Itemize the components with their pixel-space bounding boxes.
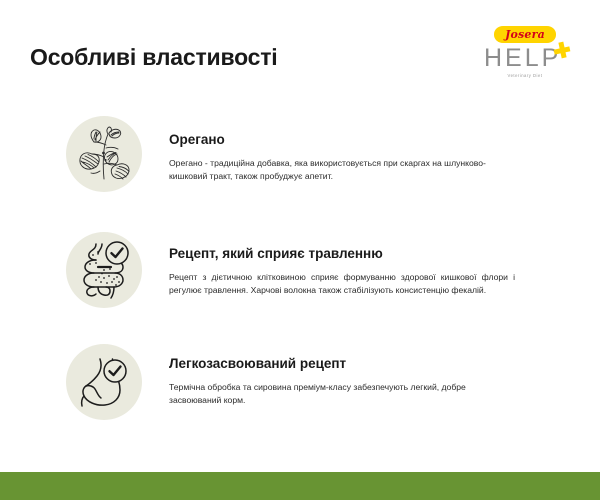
help-wordmark: HELP <box>484 46 561 71</box>
brand-logo: Josera HELP Veterinary Diet <box>480 26 572 88</box>
feature-row: Легкозасвоюваний рецепт Термічна обробка… <box>0 334 600 444</box>
feature-text-block: Рецепт, який сприяє травленню Рецепт з д… <box>169 246 515 297</box>
feature-description: Орегано - традиційна добавка, яка викори… <box>169 157 515 183</box>
feature-title: Рецепт, який сприяє травленню <box>169 246 515 262</box>
page-title: Особливі властивості <box>30 44 278 71</box>
feature-title: Орегано <box>169 132 515 148</box>
plus-cross-icon <box>554 42 570 58</box>
feature-icon-circle <box>66 116 142 192</box>
oregano-plant-icon <box>73 123 135 185</box>
feature-text-block: Легкозасвоюваний рецепт Термічна обробка… <box>169 356 515 407</box>
feature-icon-circle <box>66 232 142 308</box>
feature-description: Термічна обробка та сировина преміум-кла… <box>169 381 515 407</box>
footer-bar <box>0 472 600 500</box>
josera-badge: Josera <box>494 26 556 43</box>
feature-row: Рецепт, який сприяє травленню Рецепт з д… <box>0 224 600 334</box>
josera-badge-text: Josera <box>505 29 545 41</box>
feature-row: Орегано Орегано - традиційна добавка, як… <box>0 114 600 224</box>
feature-description: Рецепт з дієтичною клітковиною сприяє фо… <box>169 271 515 297</box>
feature-text-block: Орегано Орегано - традиційна добавка, як… <box>169 132 515 183</box>
slide-canvas: Особливі властивості Josera HELP Veterin… <box>0 0 600 500</box>
feature-title: Легкозасвоюваний рецепт <box>169 356 515 372</box>
intestine-check-icon <box>74 240 134 300</box>
help-tagline: Veterinary Diet <box>490 74 560 78</box>
stomach-check-icon <box>74 352 134 412</box>
feature-icon-circle <box>66 344 142 420</box>
